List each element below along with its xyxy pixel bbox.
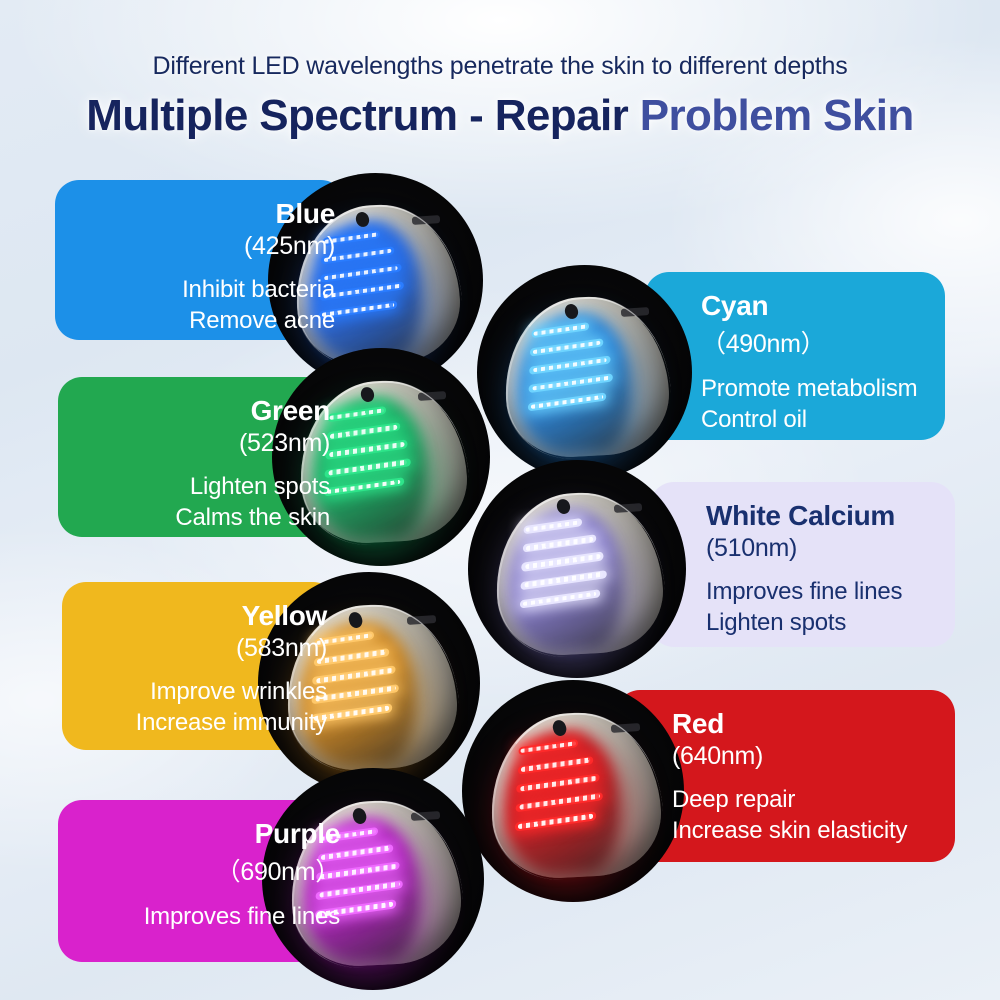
led-strip [515,812,596,832]
spectrum-benefit-1-red: Deep repair [672,785,951,816]
spectrum-wavelength-blue: (425nm) [65,232,335,261]
device-led-strips [524,318,619,426]
led-strip [529,373,613,393]
device-control-panel [411,811,440,821]
led-strip [522,534,596,553]
led-strip [324,477,404,496]
spectrum-card-text-blue: Blue(425nm)Inhibit bacteriaRemove acne [65,198,335,336]
spectrum-benefit-1-blue: Inhibit bacteria [65,275,335,306]
spectrum-name-white-calcium: White Calcium [706,500,951,532]
page-title-space [628,91,640,140]
led-strip [530,356,611,375]
led-strip [522,552,604,572]
led-strip [517,774,600,794]
device-control-panel [611,723,640,733]
spectrum-name-yellow: Yellow [72,600,327,632]
device-led-strips [516,514,613,624]
device-led-strips [510,735,608,847]
led-device-photo-white-calcium [468,460,686,678]
device-led-strips [320,402,417,512]
spectrum-name-green: Green [68,395,330,427]
spectrum-card-text-purple: Purple（690nm）Improves fine lines [68,818,340,933]
spectrum-benefit-1-cyan: Promote metabolism [701,374,941,405]
spectrum-benefit-1-white-calcium: Improves fine lines [706,577,951,608]
spectrum-wavelength-yellow: (583nm) [72,634,327,663]
spectrum-benefit-2-green: Calms the skin [68,503,330,534]
led-strip [531,338,604,356]
spectrum-wavelength-green: (523nm) [68,429,330,458]
spectrum-card-text-yellow: Yellow(583nm)Improve wrinklesIncrease im… [72,600,327,738]
spectrum-benefit-2-blue: Remove acne [65,306,335,337]
spectrum-card-text-white-calcium: White Calcium(510nm)Improves fine linesL… [706,500,951,638]
spectrum-benefit-2-cyan: Control oil [701,405,941,436]
spectrum-benefit-1-yellow: Improve wrinkles [72,677,327,708]
spectrum-wavelength-red: (640nm) [672,742,951,771]
led-strip [517,756,593,775]
spectrum-benefit-2-yellow: Increase immunity [72,708,327,739]
device-control-panel [412,215,440,224]
device-control-panel [407,615,436,625]
led-strip [528,392,607,411]
device-control-panel [418,391,447,401]
spectrum-name-red: Red [672,708,951,740]
spectrum-benefit-2-white-calcium: Lighten spots [706,608,951,639]
led-strip [326,422,400,441]
spectrum-wavelength-purple: （690nm） [68,852,340,888]
led-strip [516,792,603,813]
device-control-panel [621,307,649,316]
led-device-photo-cyan [477,265,692,480]
spectrum-wavelength-cyan: （490nm） [701,324,941,360]
led-strip [520,589,600,608]
spectrum-wavelength-white-calcium: (510nm) [706,534,951,563]
infographic-poster: Different LED wavelengths penetrate the … [0,0,1000,1000]
spectrum-name-blue: Blue [65,198,335,230]
spectrum-card-text-green: Green(523nm)Lighten spotsCalms the skin [68,395,330,533]
led-device-photo-red [462,680,684,902]
header-subtitle: Different LED wavelengths penetrate the … [0,52,1000,81]
led-strip [326,440,408,460]
spectrum-name-cyan: Cyan [701,290,941,322]
spectrum-card-text-red: Red(640nm)Deep repairIncrease skin elast… [672,708,951,846]
led-strip [325,458,411,478]
spectrum-name-purple: Purple [68,818,340,850]
spectrum-benefit-1-purple: Improves fine lines [68,902,340,933]
page-title-primary: Multiple Spectrum - Repair [86,91,628,140]
led-strip [521,570,607,590]
page-title-secondary: Problem Skin [640,91,914,140]
spectrum-card-text-cyan: Cyan（490nm）Promote metabolismControl oil [701,290,941,435]
page-title: Multiple Spectrum - Repair Problem Skin [0,91,1000,141]
device-control-panel [614,503,643,513]
spectrum-benefit-2-red: Increase skin elasticity [672,816,951,847]
spectrum-benefit-1-green: Lighten spots [68,472,330,503]
